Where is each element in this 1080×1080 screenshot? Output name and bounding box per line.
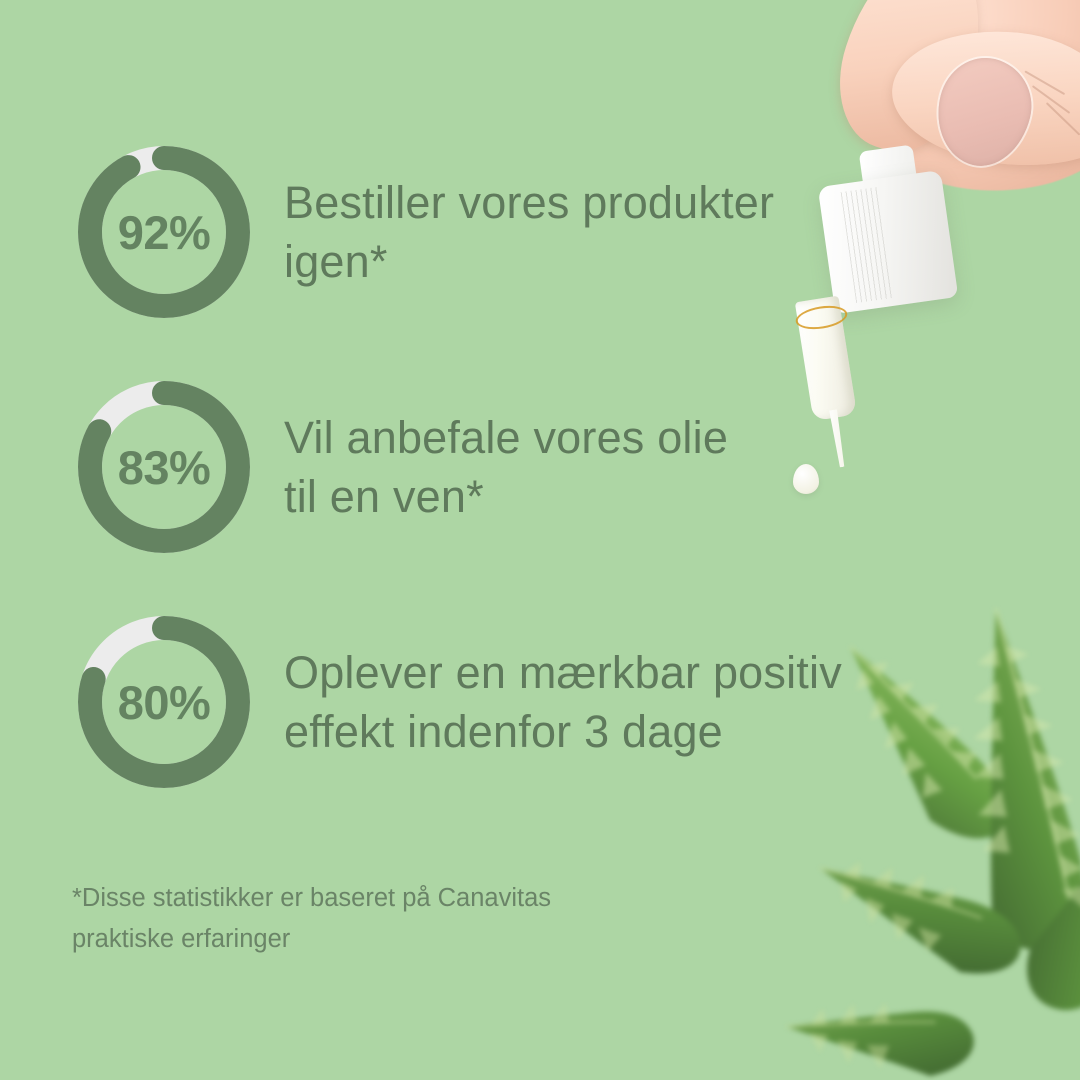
palm-shape xyxy=(840,0,1080,213)
footnote-line: *Disse statistikker er baseret på Canavi… xyxy=(72,878,551,919)
thumb-shape xyxy=(886,20,1080,176)
dropper-cap-neck xyxy=(859,144,920,203)
stat-description-line: Oplever en mærkbar positiv xyxy=(284,643,842,702)
leaflet xyxy=(783,997,977,1080)
stat-description: Bestiller vores produkter igen* xyxy=(284,173,774,292)
leaflet xyxy=(805,839,1032,991)
leaflet xyxy=(950,602,1080,956)
stat-description: Oplever en mærkbar positiv effekt indenf… xyxy=(284,643,842,762)
stat-row: 80% Oplever en mærkbar positiv effekt in… xyxy=(72,610,842,794)
pipette-icon xyxy=(787,294,873,473)
leaflet xyxy=(815,626,1022,860)
knuckle-crease xyxy=(1024,70,1065,95)
knuckle-crease xyxy=(1032,85,1070,114)
pipette-body xyxy=(795,296,857,421)
dropper-cap-icon xyxy=(818,170,959,314)
oil-droplet-icon xyxy=(793,464,819,494)
stat-description-line: til en ven* xyxy=(284,467,728,526)
pipette-tip xyxy=(824,408,851,468)
cannabis-leaf-svg xyxy=(600,520,1080,1080)
stat-description-line: effekt indenfor 3 dage xyxy=(284,702,842,761)
footnote-line: praktiske erfaringer xyxy=(72,919,551,960)
pipette-gold-ring xyxy=(794,303,849,333)
cannabis-leaf-icon xyxy=(600,520,1080,1080)
footnote: *Disse statistikker er baseret på Canavi… xyxy=(72,878,551,961)
donut-percent-label: 80% xyxy=(72,610,256,794)
donut-percent-label: 92% xyxy=(72,140,256,324)
index-finger-shape xyxy=(819,0,1004,168)
donut-chart-83: 83% xyxy=(72,375,256,559)
thumbnail-shape xyxy=(926,48,1041,175)
hand-image xyxy=(820,0,1080,270)
infographic-poster: 92% Bestiller vores produkter igen* 83% … xyxy=(0,0,1080,1080)
stat-row: 83% Vil anbefale vores olie til en ven* xyxy=(72,375,728,559)
stat-description-line: igen* xyxy=(284,232,774,291)
stat-description: Vil anbefale vores olie til en ven* xyxy=(284,408,728,527)
stat-description-line: Vil anbefale vores olie xyxy=(284,408,728,467)
knuckle-crease xyxy=(1046,102,1080,135)
stat-description-line: Bestiller vores produkter xyxy=(284,173,774,232)
leaflet xyxy=(1011,756,1080,1026)
donut-percent-label: 83% xyxy=(72,375,256,559)
donut-chart-92: 92% xyxy=(72,140,256,324)
stat-row: 92% Bestiller vores produkter igen* xyxy=(72,140,774,324)
donut-chart-80: 80% xyxy=(72,610,256,794)
